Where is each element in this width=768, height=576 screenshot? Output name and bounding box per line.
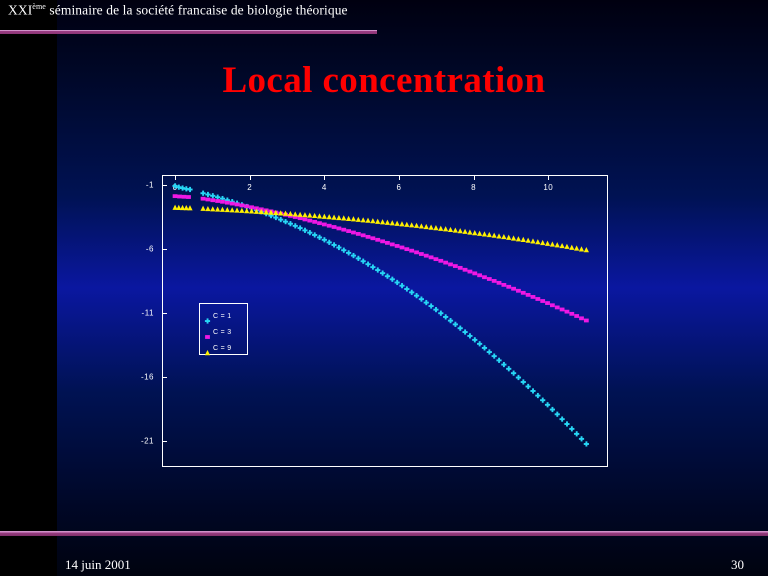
- y-tick-label: -21: [141, 437, 154, 446]
- chart-legend: C = 1C = 3C = 9: [199, 303, 248, 355]
- legend-label: C = 9: [213, 345, 231, 352]
- x-tick-label: 0: [173, 183, 178, 192]
- y-tick-mark: [162, 249, 167, 250]
- y-tick-label: -11: [142, 309, 154, 318]
- footer-date: 14 juin 2001: [65, 557, 131, 573]
- footer-divider-rule: [0, 531, 768, 536]
- y-tick-label: -16: [141, 373, 154, 382]
- legend-marker-icon: [204, 344, 211, 352]
- x-tick-label: 6: [397, 183, 402, 192]
- x-tick-label: 2: [247, 183, 252, 192]
- header-divider-rule: [0, 30, 377, 34]
- header-title: XXIème séminaire de la société francaise…: [8, 2, 348, 19]
- y-tick-mark: [162, 185, 167, 186]
- x-tick-label: 10: [543, 183, 553, 192]
- y-tick-mark: [162, 313, 167, 314]
- x-tick-mark: [250, 175, 251, 180]
- header-title-rest: séminaire de la société francaise de bio…: [46, 3, 348, 18]
- x-tick-mark: [399, 175, 400, 180]
- x-tick-mark: [474, 175, 475, 180]
- legend-label: C = 1: [213, 313, 231, 320]
- y-tick-mark: [162, 377, 167, 378]
- legend-item-c-1: C = 1: [204, 310, 231, 322]
- footer-page-number: 30: [731, 557, 744, 573]
- legend-label: C = 3: [213, 329, 231, 336]
- legend-marker-icon: [204, 328, 211, 336]
- x-tick-mark: [175, 175, 176, 180]
- legend-item-c-3: C = 3: [204, 326, 231, 338]
- legend-marker-icon: [204, 312, 211, 320]
- x-tick-label: 4: [322, 183, 327, 192]
- header-title-superscript: ème: [32, 2, 46, 11]
- x-tick-mark: [324, 175, 325, 180]
- page-title: Local concentration: [0, 59, 768, 102]
- y-tick-mark: [162, 441, 167, 442]
- header-title-main: XXI: [8, 3, 32, 18]
- y-tick-label: -1: [146, 181, 154, 190]
- legend-item-c-9: C = 9: [204, 342, 231, 354]
- x-tick-mark: [548, 175, 549, 180]
- x-tick-label: 8: [471, 183, 476, 192]
- y-tick-label: -6: [146, 245, 154, 254]
- slide: XXIème séminaire de la société francaise…: [0, 0, 768, 576]
